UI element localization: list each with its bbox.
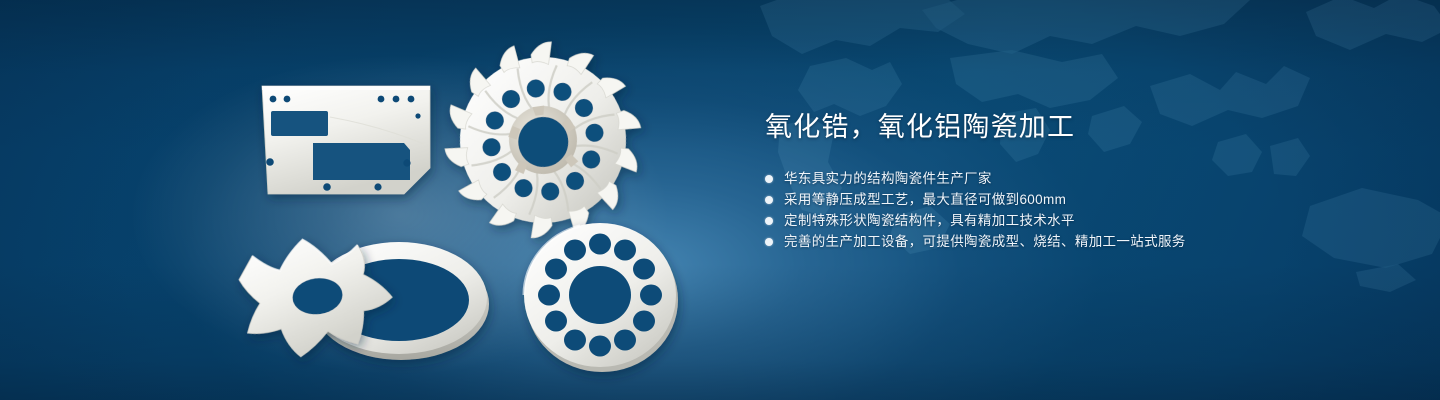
feature-list: 华东具实力的结构陶瓷件生产厂家 采用等静压成型工艺，最大直径可做到600mm 定…: [765, 168, 1385, 252]
bullet-dot-icon: [765, 238, 773, 246]
product-photo-group: [0, 0, 720, 400]
bullet-dot-icon: [765, 217, 773, 225]
list-item: 完善的生产加工设备，可提供陶瓷成型、烧结、精加工一站式服务: [765, 231, 1385, 252]
page-title: 氧化锆，氧化铝陶瓷加工: [765, 108, 1385, 146]
list-item-label: 完善的生产加工设备，可提供陶瓷成型、烧结、精加工一站式服务: [784, 231, 1186, 252]
ceramic-mounting-plate: [262, 86, 430, 194]
promo-banner: 氧化锆，氧化铝陶瓷加工 华东具实力的结构陶瓷件生产厂家 采用等静压成型工艺，最大…: [0, 0, 1440, 400]
list-item: 华东具实力的结构陶瓷件生产厂家: [765, 168, 1385, 189]
list-item-label: 采用等静压成型工艺，最大直径可做到600mm: [784, 189, 1066, 210]
list-item: 定制特殊形状陶瓷结构件，具有精加工技术水平: [765, 210, 1385, 231]
ceramic-perforated-disc: [524, 223, 678, 372]
bullet-dot-icon: [765, 175, 773, 183]
bullet-dot-icon: [765, 196, 773, 204]
list-item: 采用等静压成型工艺，最大直径可做到600mm: [765, 189, 1385, 210]
list-item-label: 华东具实力的结构陶瓷件生产厂家: [784, 168, 992, 189]
banner-text-column: 氧化锆，氧化铝陶瓷加工 华东具实力的结构陶瓷件生产厂家 采用等静压成型工艺，最大…: [765, 108, 1385, 252]
list-item-label: 定制特殊形状陶瓷结构件，具有精加工技术水平: [784, 210, 1075, 231]
